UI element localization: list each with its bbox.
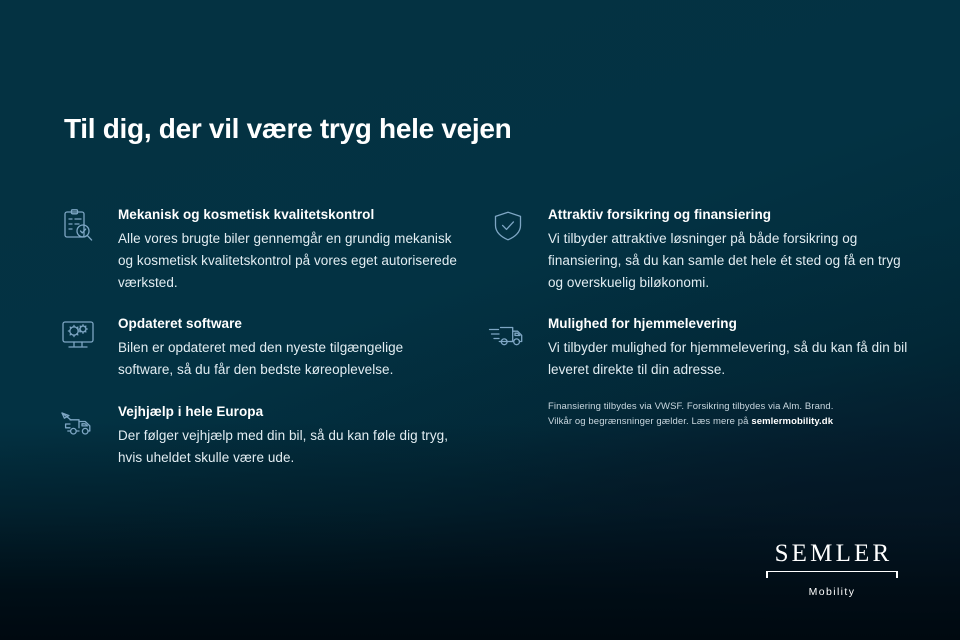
feature-body: Vi tilbyder attraktive løsninger på både…: [548, 228, 908, 294]
logo-tagline: Mobility: [762, 586, 902, 598]
shield-check-icon: [488, 208, 528, 244]
feature-title: Mulighed for hjemmelevering: [548, 315, 908, 333]
logo-wordmark: SEMLER: [762, 540, 902, 568]
feature-title: Attraktiv forsikring og finansiering: [548, 206, 908, 224]
feature-body: Bilen er opdateret med den nyeste tilgæn…: [118, 337, 458, 381]
page-title: Til dig, der vil være tryg hele vejen: [64, 113, 511, 145]
clipboard-magnifier-icon: [58, 208, 98, 244]
legal-fineprint: Finansiering tilbydes via VWSF. Forsikri…: [488, 399, 908, 429]
feature-item-insurance-financing: Attraktiv forsikring og finansiering Vi …: [488, 206, 908, 294]
left-feature-column: Mekanisk og kosmetisk kvalitetskontrol A…: [58, 206, 458, 489]
right-feature-column: Attraktiv forsikring og finansiering Vi …: [488, 206, 908, 429]
feature-item-quality-control: Mekanisk og kosmetisk kvalitetskontrol A…: [58, 206, 458, 294]
delivery-truck-icon: [488, 317, 528, 353]
feature-title: Vejhjælp i hele Europa: [118, 403, 458, 421]
feature-item-home-delivery: Mulighed for hjemmelevering Vi tilbyder …: [488, 315, 908, 381]
slide-canvas: Til dig, der vil være tryg hele vejen Me…: [0, 0, 960, 640]
feature-title: Mekanisk og kosmetisk kvalitetskontrol: [118, 206, 458, 224]
fineprint-website-link[interactable]: semlermobility.dk: [751, 416, 833, 427]
fineprint-line-1: Finansiering tilbydes via VWSF. Forsikri…: [548, 399, 908, 414]
fineprint-line-2: Vilkår og begrænsninger gælder. Læs mere…: [548, 414, 908, 429]
fineprint-line-2-text: Vilkår og begrænsninger gælder. Læs mere…: [548, 416, 751, 427]
tow-truck-icon: [58, 405, 98, 441]
feature-body: Vi tilbyder mulighed for hjemmelevering,…: [548, 337, 908, 381]
feature-title: Opdateret software: [118, 315, 458, 333]
feature-item-roadside-assistance: Vejhjælp i hele Europa Der følger vejhjæ…: [58, 403, 458, 469]
monitor-gears-icon: [58, 317, 98, 353]
semler-mobility-logo: SEMLER Mobility: [762, 540, 902, 598]
feature-item-updated-software: Opdateret software Bilen er opdateret me…: [58, 315, 458, 381]
logo-bracket-rule: [766, 571, 898, 580]
feature-body: Alle vores brugte biler gennemgår en gru…: [118, 228, 458, 294]
feature-body: Der følger vejhjælp med din bil, så du k…: [118, 425, 458, 469]
